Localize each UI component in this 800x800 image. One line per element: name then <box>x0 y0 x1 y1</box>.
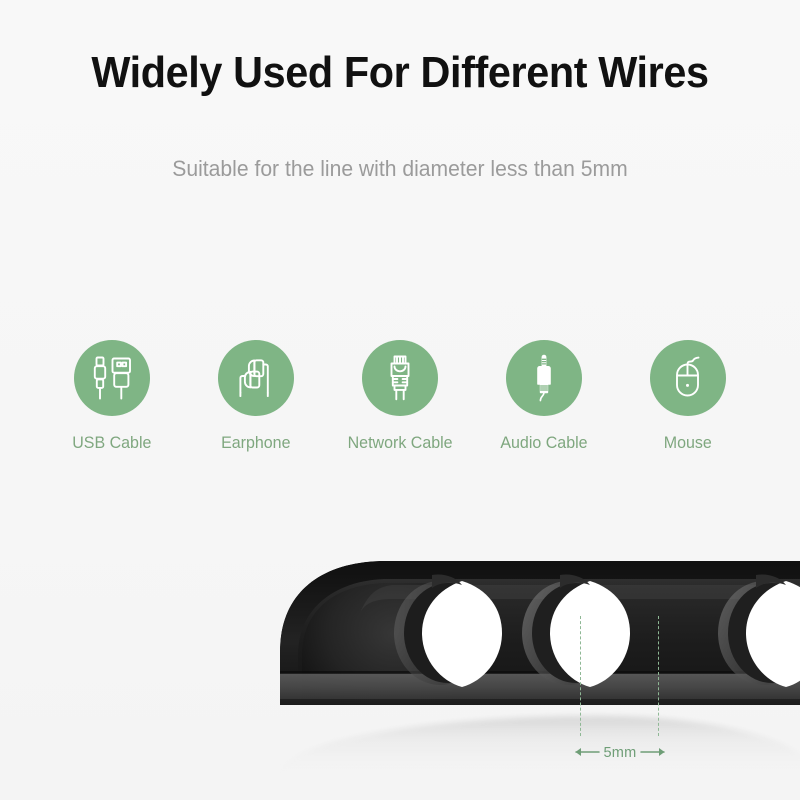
earphone-icon <box>227 349 285 407</box>
wire-label-usb-cable: USB Cable <box>72 433 151 453</box>
product-reflection <box>276 716 800 776</box>
mouse-icon-disc <box>650 340 726 416</box>
network-cable-icon-disc <box>362 340 438 416</box>
cable-organizer-illustration <box>272 555 800 720</box>
wire-item-network-cable: Network Cable <box>328 340 472 453</box>
mouse-icon <box>659 349 717 407</box>
usb-cable-icon-disc <box>74 340 150 416</box>
wire-item-earphone: Earphone <box>184 340 328 453</box>
page-title: Widely Used For Different Wires <box>24 46 776 100</box>
wire-label-network-cable: Network Cable <box>348 433 453 453</box>
compatible-wires-row: USB Cable <box>40 340 760 480</box>
wire-item-mouse: Mouse <box>616 340 760 453</box>
wire-label-earphone: Earphone <box>221 433 290 453</box>
usb-cable-icon <box>83 349 141 407</box>
product-photo-stage: 5mm <box>0 520 800 800</box>
page-subtitle: Suitable for the line with diameter less… <box>16 153 784 185</box>
product-infographic: Widely Used For Different Wires Suitable… <box>0 0 800 800</box>
wire-item-audio-cable: Audio Cable <box>472 340 616 453</box>
wire-label-audio-cable: Audio Cable <box>500 433 587 453</box>
wire-label-mouse: Mouse <box>664 433 712 453</box>
audio-cable-icon <box>515 349 573 407</box>
network-cable-icon <box>371 349 429 407</box>
audio-cable-icon-disc <box>506 340 582 416</box>
wire-item-usb-cable: USB Cable <box>40 340 184 453</box>
cable-organizer-clip <box>272 555 800 720</box>
earphone-icon-disc <box>218 340 294 416</box>
